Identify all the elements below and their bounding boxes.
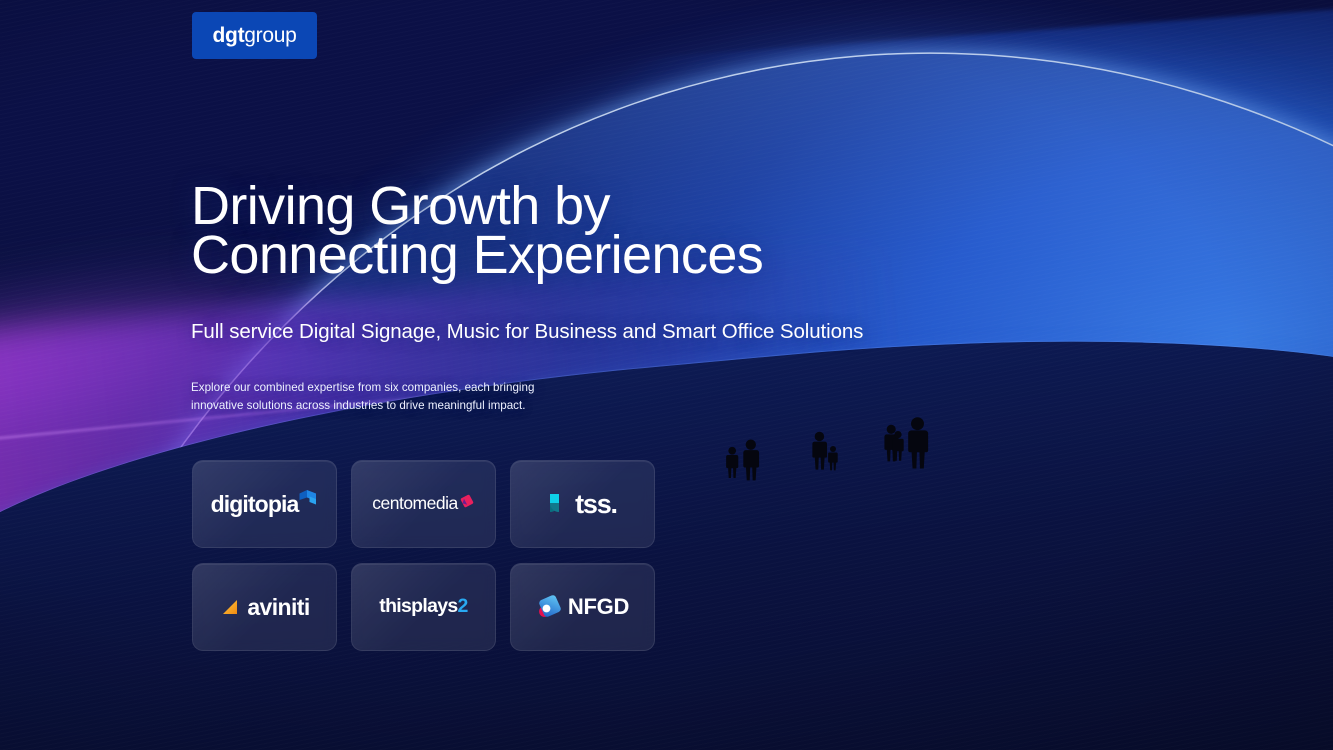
company-card-centomedia[interactable]: centomedia xyxy=(351,460,496,548)
blurb-line-1: Explore our combined expertise from six … xyxy=(191,381,534,394)
dgt-group-logo[interactable]: dgtgroup xyxy=(192,12,317,59)
company-card-digitopia[interactable]: digitopia xyxy=(192,460,337,548)
tss-squares-icon xyxy=(548,492,569,516)
hero-text-block: Driving Growth by Connecting Experiences xyxy=(191,182,951,280)
hero-blurb: Explore our combined expertise from six … xyxy=(191,379,551,415)
tss-wordmark: tss. xyxy=(575,491,617,518)
aviniti-triangle-icon xyxy=(219,596,241,618)
digitopia-wordmark: digitopia xyxy=(211,493,299,516)
thisplays2-word-main: thisplays xyxy=(379,595,457,617)
centomedia-lockup: centomedia xyxy=(372,495,474,513)
centomedia-wordmark: centomedia xyxy=(372,495,457,513)
company-card-thisplays2[interactable]: thisplays2 xyxy=(351,563,496,651)
nfgd-lockup: NFGD xyxy=(536,593,629,621)
logo-regular-part: group xyxy=(244,24,296,47)
digitopia-lockup: digitopia xyxy=(211,493,319,516)
page-title: Driving Growth by Connecting Experiences xyxy=(191,182,951,280)
company-card-tss[interactable]: tss. xyxy=(510,460,655,548)
centomedia-diamond-icon xyxy=(459,493,475,509)
hero-subtitle: Full service Digital Signage, Music for … xyxy=(191,320,863,344)
logo-wordmark: dgtgroup xyxy=(213,25,297,46)
company-card-aviniti[interactable]: aviniti xyxy=(192,563,337,651)
nfgd-badge-icon xyxy=(536,593,564,621)
hero-page: dgtgroup Driving Growth by Connecting Ex… xyxy=(0,0,1333,750)
company-logo-grid: digitopia centomedia xyxy=(192,460,655,651)
digitopia-cube-icon xyxy=(296,488,318,510)
company-card-nfgd[interactable]: NFGD xyxy=(510,563,655,651)
thisplays2-lockup: thisplays2 xyxy=(379,597,467,617)
tss-lockup: tss. xyxy=(548,491,617,518)
logo-bold-part: dgt xyxy=(213,24,245,47)
thisplays2-wordmark: thisplays2 xyxy=(379,597,467,617)
nfgd-wordmark: NFGD xyxy=(568,596,629,618)
aviniti-wordmark: aviniti xyxy=(247,596,309,619)
aviniti-lockup: aviniti xyxy=(219,596,309,619)
blurb-line-2: innovative solutions across industries t… xyxy=(191,399,525,412)
headline-line-2: Connecting Experiences xyxy=(191,225,763,285)
thisplays2-word-accent: 2 xyxy=(458,595,468,617)
